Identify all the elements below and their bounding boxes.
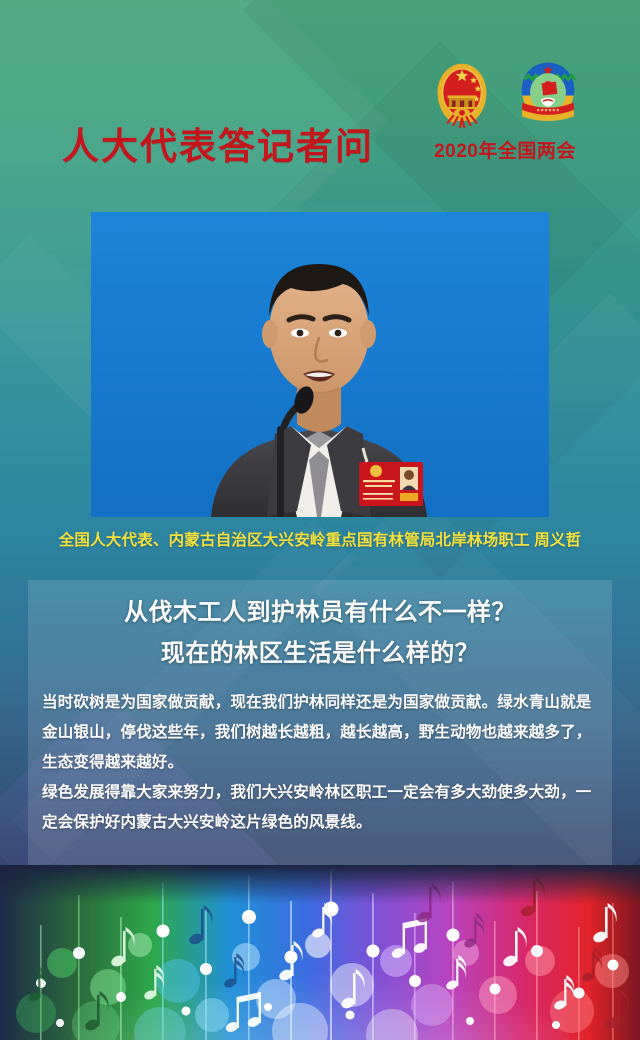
photo-caption: 全国人大代表、内蒙古自治区大兴安岭重点国有林管局北岸林场职工 周义哲: [0, 528, 640, 550]
answer-block: 当时砍树是为国家做贡献，现在我们护林同样还是为国家做贡献。绿水青山就是金山银山，…: [42, 688, 598, 838]
answer-paragraph-1: 当时砍树是为国家做贡献，现在我们护林同样还是为国家做贡献。绿水青山就是金山银山，…: [42, 688, 598, 778]
emblem-group: ★★★★★★: [415, 58, 595, 130]
question-block: 从伐木工人到护林员有什么不一样？ 现在的林区生活是什么样的？: [28, 592, 612, 674]
question-line-2: 现在的林区生活是什么样的？: [28, 633, 612, 674]
answer-paragraph-2: 绿色发展得靠大家来努力，我们大兴安岭林区职工一定会有多大劲使多大劲，一定会保护好…: [42, 778, 598, 838]
question-line-1: 从伐木工人到护林员有什么不一样？: [28, 592, 612, 633]
page-title: 人大代表答记者问: [62, 116, 374, 170]
speaker-photo: [91, 212, 549, 517]
svg-text:★★★★★★: ★★★★★★: [536, 107, 559, 113]
national-emblem-prc-icon: [426, 58, 498, 130]
music-notes-decoration: [0, 865, 640, 1040]
poster-root: 人大代表答记者问: [0, 0, 640, 1040]
cppcc-emblem-icon: ★★★★★★: [512, 58, 584, 130]
header-subtitle: 2020年全国两会: [415, 136, 595, 163]
